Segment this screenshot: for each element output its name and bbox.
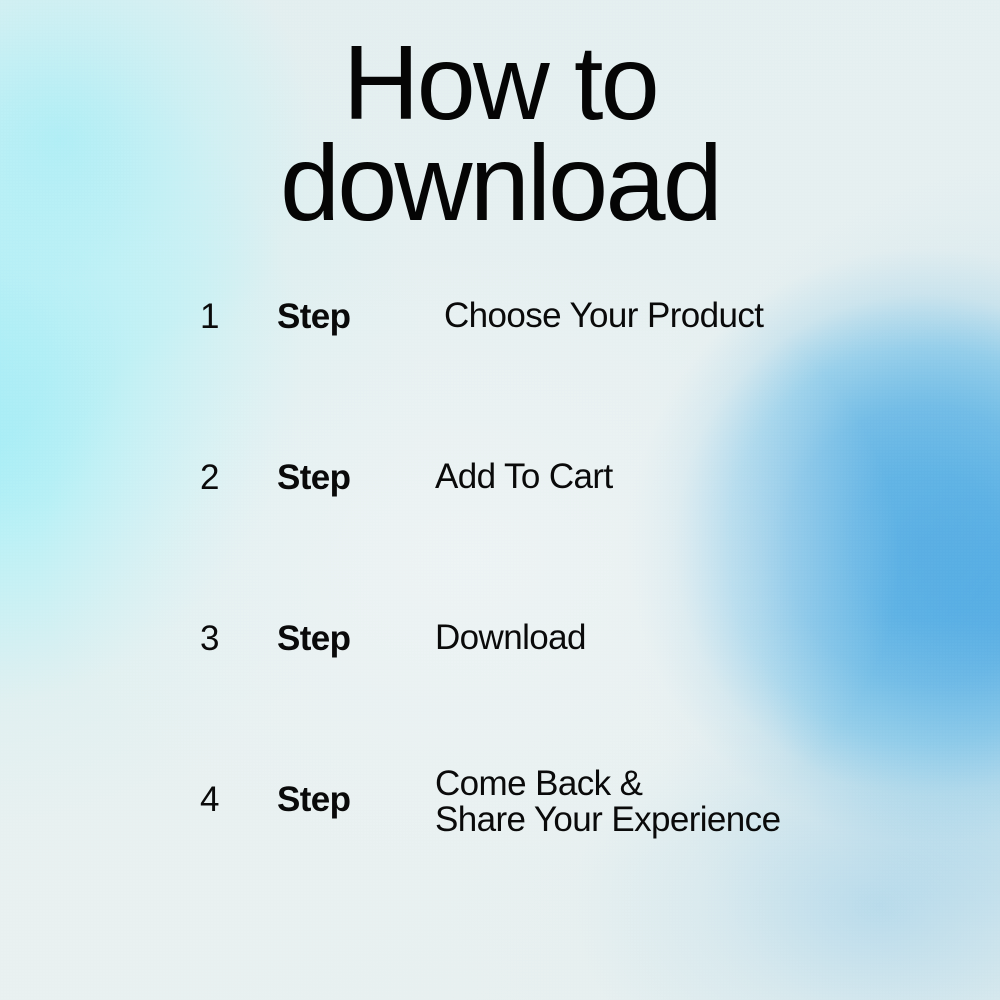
step-label-4: Step (277, 782, 350, 817)
step-label-2: Step (277, 460, 350, 495)
step-number-4: 4 (200, 782, 246, 817)
content-container: How to download 1 Step Choose Your Produ… (0, 0, 1000, 1000)
title-line-1: How to (0, 34, 1000, 133)
page-title: How to download (0, 34, 1000, 233)
step-label-3: Step (277, 621, 350, 656)
title-line-2: download (0, 133, 1000, 233)
step-description-4: Come Back & Share Your Experience (435, 766, 780, 837)
poster-canvas: How to download 1 Step Choose Your Produ… (0, 0, 1000, 1000)
step-number-3: 3 (200, 621, 246, 656)
step-description-1: Choose Your Product (444, 298, 763, 333)
step-description-3: Download (435, 620, 586, 655)
step-description-2: Add To Cart (435, 459, 613, 494)
step-item-1: 1 Step Choose Your Product (0, 285, 1000, 446)
step-label-1: Step (277, 299, 350, 334)
step-number-2: 2 (200, 460, 246, 495)
step-number-1: 1 (200, 299, 246, 334)
steps-list: 1 Step Choose Your Product 2 Step Add To… (0, 285, 1000, 929)
step-item-3: 3 Step Download (0, 607, 1000, 768)
step-item-4: 4 Step Come Back & Share Your Experience (0, 768, 1000, 929)
step-item-2: 2 Step Add To Cart (0, 446, 1000, 607)
